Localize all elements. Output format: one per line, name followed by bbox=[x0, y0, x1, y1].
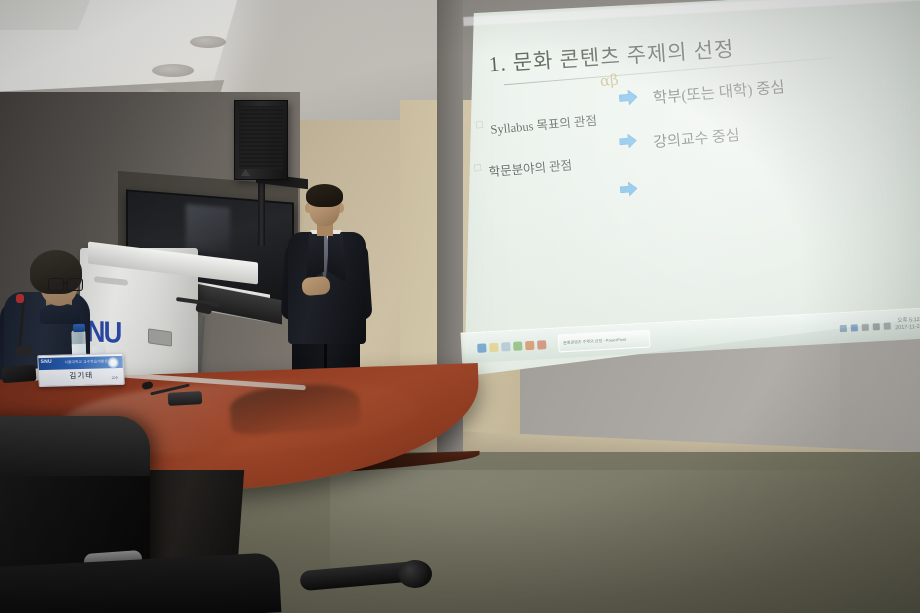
recessed-light-icon bbox=[152, 64, 194, 77]
desk-device bbox=[1, 365, 36, 383]
system-tray[interactable]: 오후 5:12 2017-11-28 bbox=[840, 316, 920, 336]
lens-right bbox=[67, 278, 83, 291]
speaker-brand-icon bbox=[241, 169, 250, 176]
floor-light-sheen bbox=[330, 470, 920, 613]
ime-korean-icon[interactable] bbox=[851, 324, 858, 331]
recessed-light-icon bbox=[190, 36, 226, 48]
table-microphone-base bbox=[168, 391, 203, 406]
powerpoint-icon[interactable] bbox=[525, 340, 534, 349]
water-bottle-cap bbox=[73, 324, 85, 332]
taskbar-clock[interactable]: 오후 5:12 2017-11-28 bbox=[895, 316, 920, 332]
lectern-control-panel[interactable] bbox=[148, 328, 172, 346]
speaker-mount-pole bbox=[258, 178, 265, 246]
slide-left-bullet-2: 학문분야의 관점 bbox=[488, 154, 573, 180]
speaker-grille bbox=[239, 106, 283, 169]
lens-left bbox=[48, 278, 64, 291]
quick-launch-bar[interactable] bbox=[473, 337, 551, 354]
decorative-ornament-icon: αβ bbox=[599, 70, 620, 90]
volume-icon[interactable] bbox=[862, 323, 869, 330]
projection-screen: 1. 문화 콘텐츠 주제의 선정 αβ □ Syllabus 목표의 관점 □ … bbox=[455, 0, 920, 490]
notepad-icon[interactable] bbox=[501, 342, 510, 351]
attendee-turtleneck bbox=[40, 304, 80, 324]
nameplate: SNU 서울대학교 교수학습개발센터 김기태 교수 bbox=[37, 353, 125, 387]
clock-date: 2017-11-28 bbox=[895, 324, 920, 333]
nameplate-role: 교수 bbox=[111, 376, 118, 381]
bullet-marker-icon: □ bbox=[474, 162, 482, 175]
office-chair-headrest bbox=[0, 416, 150, 476]
hancom-icon[interactable] bbox=[537, 340, 546, 349]
slide-left-bullet-1: Syllabus 목표의 관점 bbox=[489, 110, 597, 138]
taskbar-active-window-button[interactable]: 문화콘텐츠 주제의 선정 - PowerPoint bbox=[558, 330, 651, 353]
bullet-marker-icon: □ bbox=[476, 119, 484, 132]
usb-icon[interactable] bbox=[873, 323, 880, 330]
network-icon[interactable] bbox=[840, 324, 847, 331]
slide-right-bullet-2: 강의교수 중심 bbox=[652, 124, 740, 152]
start-button[interactable] bbox=[463, 338, 468, 358]
lecture-room-photo: 1. 문화 콘텐츠 주제의 선정 αβ □ Syllabus 목표의 관점 □ … bbox=[0, 0, 920, 613]
wall-speaker bbox=[234, 100, 288, 180]
ie-icon[interactable] bbox=[477, 343, 486, 352]
presenter-hair bbox=[306, 184, 343, 207]
attendee-microphone-base bbox=[16, 345, 33, 355]
update-icon[interactable] bbox=[884, 322, 891, 329]
eyeglasses-icon bbox=[48, 278, 82, 289]
display-reflection bbox=[186, 204, 230, 253]
slide-right-bullet-1: 학부(또는 대학) 중심 bbox=[652, 75, 786, 108]
presenter-hands bbox=[301, 276, 330, 296]
attendee-microphone-head bbox=[16, 294, 24, 303]
slide-title: 1. 문화 콘텐츠 주제의 선정 bbox=[488, 23, 889, 78]
foreground-microphone-head bbox=[398, 560, 432, 588]
nameplate-badge: SNU bbox=[40, 359, 52, 365]
nameplate-seal-icon bbox=[107, 357, 119, 368]
media-player-icon[interactable] bbox=[513, 341, 522, 350]
folder-icon[interactable] bbox=[489, 342, 498, 351]
